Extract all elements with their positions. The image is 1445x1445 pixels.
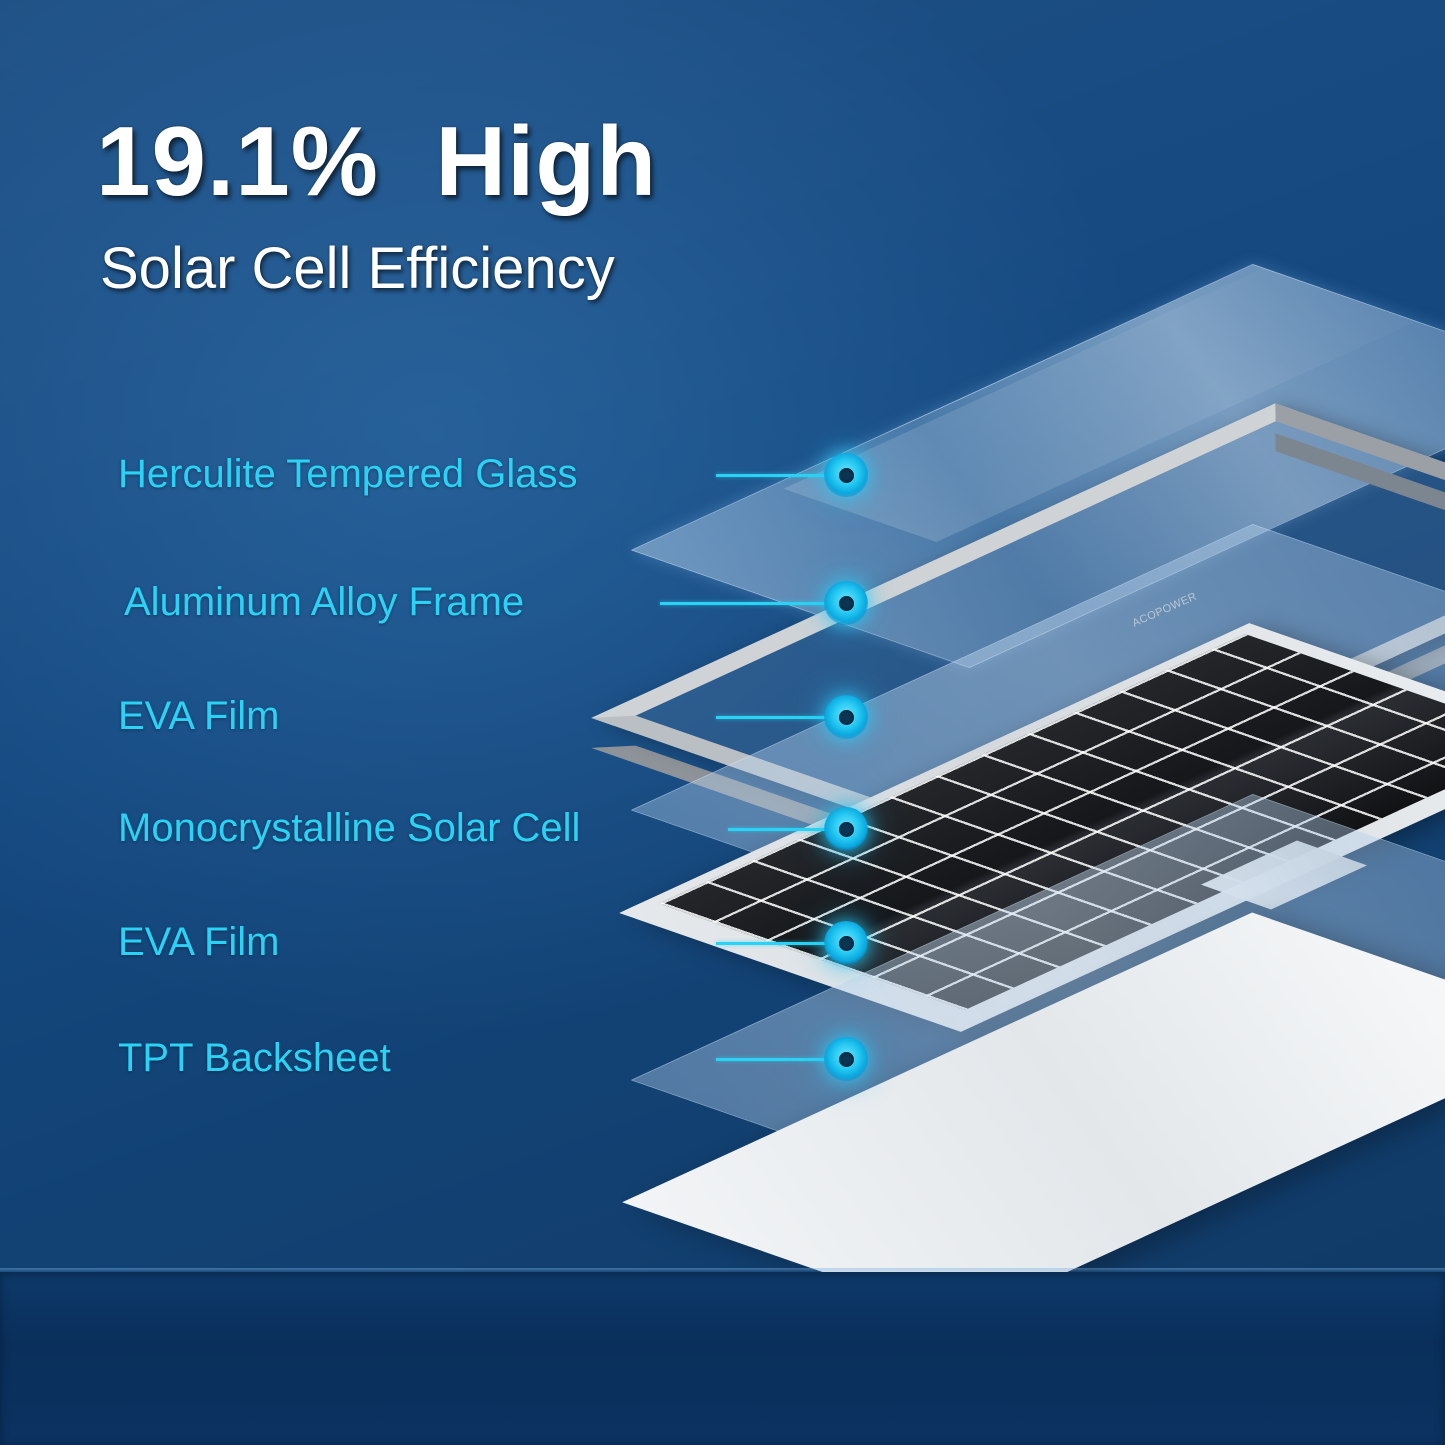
callout-dot-eva-top[interactable] — [824, 695, 868, 739]
callout-label-cell: Monocrystalline Solar Cell — [118, 806, 580, 851]
callout-dot-frame[interactable] — [824, 581, 868, 625]
floor-band — [0, 1272, 1445, 1445]
callout-label-glass: Herculite Tempered Glass — [118, 452, 577, 497]
callout-label-frame: Aluminum Alloy Frame — [124, 580, 524, 625]
leader-line-eva-bot — [716, 942, 828, 945]
headline-efficiency: 19.1% High — [96, 112, 657, 210]
callout-label-eva-bot: EVA Film — [118, 920, 280, 965]
callout-dot-eva-bot[interactable] — [824, 921, 868, 965]
callout-label-backsheet: TPT Backsheet — [118, 1036, 391, 1081]
leader-line-backsheet — [716, 1058, 828, 1061]
diagram-canvas: ACOPOWER 19.1% High Solar Cell Efficienc… — [0, 0, 1445, 1445]
callout-dot-backsheet[interactable] — [824, 1037, 868, 1081]
callout-dot-glass[interactable] — [824, 453, 868, 497]
leader-line-eva-top — [716, 716, 828, 719]
subheadline: Solar Cell Efficiency — [100, 240, 615, 298]
callout-label-eva-top: EVA Film — [118, 694, 280, 739]
leader-line-frame — [660, 602, 828, 605]
leader-line-cell — [728, 828, 828, 831]
callout-dot-cell[interactable] — [824, 807, 868, 851]
leader-line-glass — [716, 474, 828, 477]
